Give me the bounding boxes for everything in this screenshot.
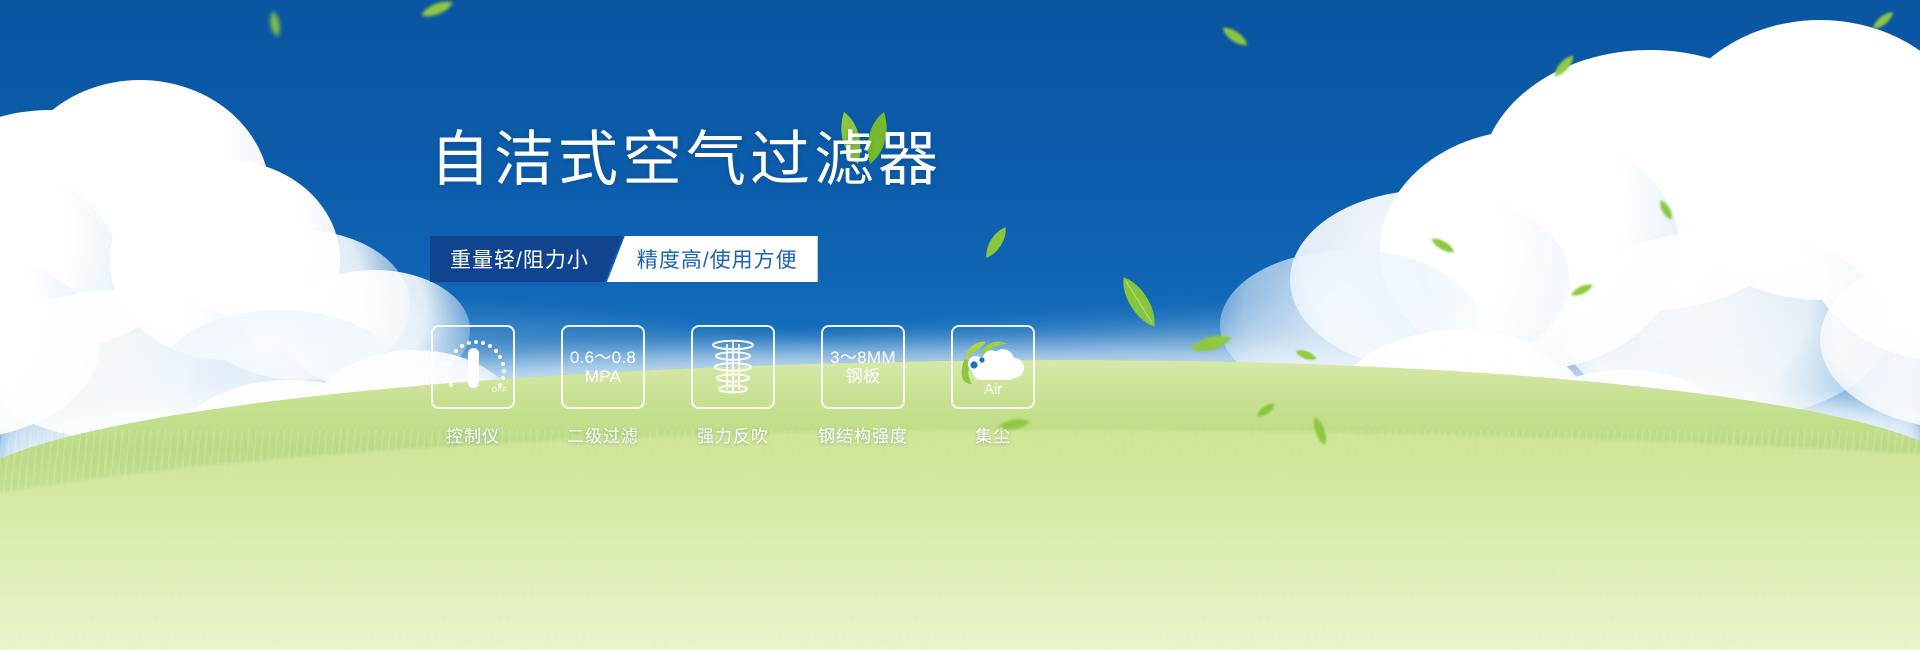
feature-item-2: 强力反吹 [690,325,776,447]
gauge-label-left: NO [440,363,452,370]
feature-item-0: NO OFF 控制仪 [430,325,516,447]
backblow-icon [705,338,761,396]
feature-caption-2: 强力反吹 [697,422,769,447]
pressure-icon: 0.6～0.8 MPA [570,348,636,386]
tag-item-0: 重量轻/阻力小 [430,236,623,282]
banner-content: 自洁式空气过滤器 重量轻/阻力小 精度高/使用方便 [0,0,1920,650]
steel-plate-icon: 3～8MM 钢板 [830,348,896,386]
feature-caption-3: 钢结构强度 [818,422,908,447]
feature-caption-4: 集尘 [975,422,1011,447]
feature-caption-1: 二级过滤 [567,422,639,447]
banner-stage: 自洁式空气过滤器 重量轻/阻力小 精度高/使用方便 [0,0,1920,650]
feature-box-1: 0.6～0.8 MPA [561,325,645,409]
feature-item-4: Air 集尘 [950,325,1036,447]
feature-box-3: 3～8MM 钢板 [821,325,905,409]
page-title: 自洁式空气过滤器 [430,130,942,190]
feature-value-1: 0.6～0.8 [570,348,636,367]
feature-caption-0: 控制仪 [446,422,500,447]
feature-value-4: Air [958,381,1028,398]
feature-value-3: 3～8MM [830,348,896,367]
feature-value2-3: 钢板 [830,367,896,386]
feature-item-3: 3～8MM 钢板 钢结构强度 [820,325,906,447]
feature-box-2 [691,325,775,409]
feature-list: NO OFF 控制仪 0.6～0.8 MPA 二级过滤 [430,325,1036,447]
title-wrap: 自洁式空气过滤器 [430,130,942,190]
feature-value2-1: MPA [570,367,636,386]
feature-item-1: 0.6～0.8 MPA 二级过滤 [560,325,646,447]
tag-item-1: 精度高/使用方便 [607,236,818,282]
feature-box-4: Air [951,325,1035,409]
gauge-icon: NO OFF [442,336,504,398]
feature-box-0: NO OFF [431,325,515,409]
air-cloud-icon: Air [958,336,1028,398]
gauge-label-right: OFF [492,387,508,394]
tag-list: 重量轻/阻力小 精度高/使用方便 [430,236,818,282]
gauge-needle [468,348,479,388]
